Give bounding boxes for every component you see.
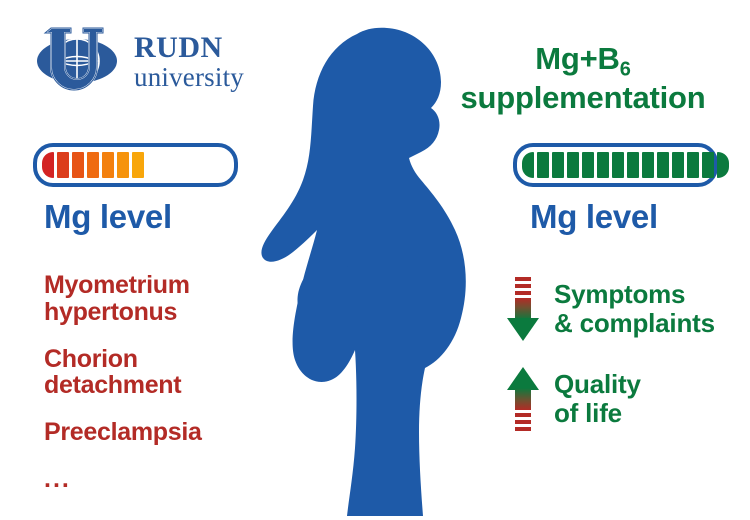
mg-level-label-right: Mg level <box>530 198 658 236</box>
headline-line1-main: Mg+B <box>535 41 619 76</box>
battery-cell <box>717 152 729 178</box>
battery-cell <box>582 152 594 178</box>
outcome-symptoms-decrease: Symptoms & complaints <box>506 276 715 342</box>
battery-cell <box>612 152 624 178</box>
battery-cell <box>117 152 129 178</box>
rudn-globe-u-logo-icon <box>34 22 120 102</box>
risk-item-chorion-detachment: Chorion detachment <box>44 346 269 400</box>
battery-cell <box>597 152 609 178</box>
outcome-quality-line2: of life <box>554 398 622 428</box>
headline-line1-subscript: 6 <box>620 58 631 80</box>
outcome-quality-line1: Quality <box>554 369 641 399</box>
battery-cell <box>87 152 99 178</box>
battery-cell <box>702 152 714 178</box>
rudn-logo: RUDN university <box>34 22 244 102</box>
battery-cell <box>567 152 579 178</box>
risk-item-myometrium-hypertonus: Myometrium hypertonus <box>44 272 269 326</box>
battery-low-icon <box>33 143 238 187</box>
battery-cell <box>57 152 69 178</box>
logo-name-line1: RUDN <box>134 33 244 64</box>
battery-full-icon <box>513 143 718 187</box>
battery-cell <box>537 152 549 178</box>
outcome-symptoms-label: Symptoms & complaints <box>554 280 715 337</box>
battery-cell <box>672 152 684 178</box>
risk-list: Myometrium hypertonus Chorion detachment… <box>44 272 269 493</box>
outcome-symptoms-line2: & complaints <box>554 308 715 338</box>
pregnant-woman-silhouette-icon <box>245 8 505 520</box>
battery-cell <box>627 152 639 178</box>
infographic-canvas: RUDN university Mg+B6 supplementation Mg… <box>0 0 750 520</box>
logo-name-line2: university <box>134 64 244 92</box>
arrow-up-icon <box>506 366 540 432</box>
battery-cell <box>42 152 54 178</box>
outcome-quality-of-life-increase: Quality of life <box>506 366 641 432</box>
battery-cell <box>72 152 84 178</box>
battery-cell <box>687 152 699 178</box>
battery-cell <box>522 152 534 178</box>
risk-item-ellipsis: ... <box>44 466 269 493</box>
battery-cell <box>642 152 654 178</box>
outcome-quality-label: Quality of life <box>554 370 641 427</box>
battery-cell <box>102 152 114 178</box>
arrow-down-icon <box>506 276 540 342</box>
battery-cell <box>552 152 564 178</box>
mg-level-label-left: Mg level <box>44 198 172 236</box>
risk-item-preeclampsia: Preeclampsia <box>44 419 269 446</box>
outcome-symptoms-line1: Symptoms <box>554 279 685 309</box>
battery-cell <box>657 152 669 178</box>
battery-cell <box>132 152 144 178</box>
rudn-logo-wordmark: RUDN university <box>134 33 244 91</box>
